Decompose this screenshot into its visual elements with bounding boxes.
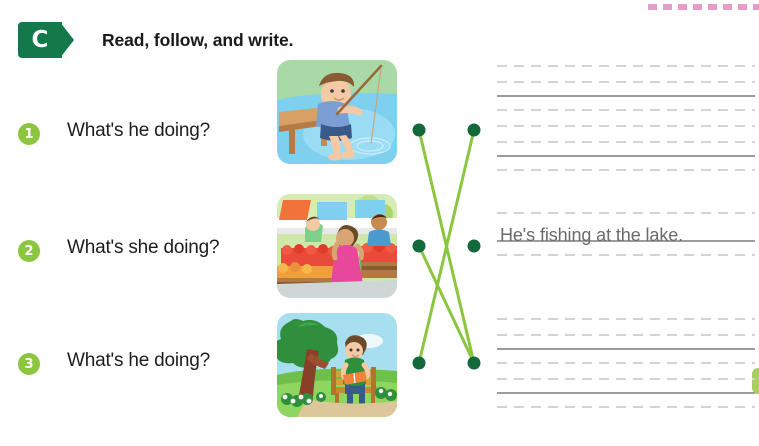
question-text-2: What's she doing? <box>67 237 219 259</box>
writing-block-3[interactable] <box>497 318 755 408</box>
thumbnail-boy-fishing[interactable] <box>277 60 397 164</box>
question-number-2: 2 <box>18 240 40 262</box>
instruction-text: Read, follow, and write. <box>102 30 293 51</box>
question-text-3: What's he doing? <box>67 350 210 372</box>
writing-block-1[interactable] <box>497 65 755 171</box>
question-text-1: What's he doing? <box>67 120 210 142</box>
worksheet-page: C Read, follow, and write. 1 What's he d… <box>0 0 759 446</box>
guide-dash-line <box>497 169 755 171</box>
top-decorative-dashed-rule <box>648 4 759 10</box>
thumbnail-woman-market[interactable] <box>277 194 397 298</box>
answer-text-2[interactable]: He's fishing at the lake. <box>500 225 756 246</box>
section-tag-badge: C <box>18 22 62 58</box>
question-number-1: 1 <box>18 123 40 145</box>
guide-dash-line <box>497 254 755 256</box>
thumbnail-boy-reading-bench[interactable] <box>277 313 397 417</box>
guide-dash-line <box>497 406 755 408</box>
section-tag-letter: C <box>32 29 49 52</box>
section-header: C Read, follow, and write. <box>18 22 293 58</box>
question-number-3: 3 <box>18 353 40 375</box>
